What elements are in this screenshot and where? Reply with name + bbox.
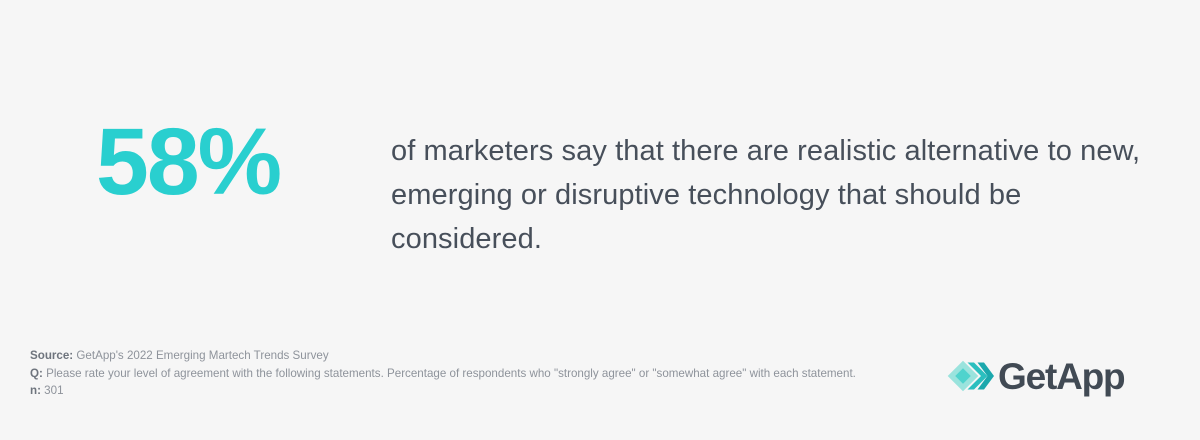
- getapp-logo: GetApp: [946, 355, 1158, 397]
- footnote-source-label: Source:: [30, 349, 73, 362]
- footnote-question-label: Q:: [30, 367, 43, 380]
- getapp-wordmark: GetApp: [998, 358, 1124, 395]
- stat-statement-text: of marketers say that there are realisti…: [391, 129, 1151, 261]
- stat-percentage: 58%: [96, 112, 356, 212]
- getapp-chevron-diamond-icon: [946, 359, 994, 393]
- stat-callout-card: 58% of marketers say that there are real…: [0, 0, 1200, 440]
- footnote-sample-line: n: 301: [30, 382, 910, 400]
- hero-row: 58% of marketers say that there are real…: [0, 112, 1200, 272]
- footnote-source-line: Source: GetApp's 2022 Emerging Martech T…: [30, 347, 910, 365]
- footnote-question-line: Q: Please rate your level of agreement w…: [30, 365, 910, 383]
- footnote-block: Source: GetApp's 2022 Emerging Martech T…: [30, 347, 910, 400]
- footnote-sample-label: n:: [30, 384, 41, 397]
- footnote-question-value: Please rate your level of agreement with…: [43, 367, 856, 380]
- footnote-sample-value: 301: [41, 384, 64, 397]
- footnote-source-value: GetApp's 2022 Emerging Martech Trends Su…: [73, 349, 328, 362]
